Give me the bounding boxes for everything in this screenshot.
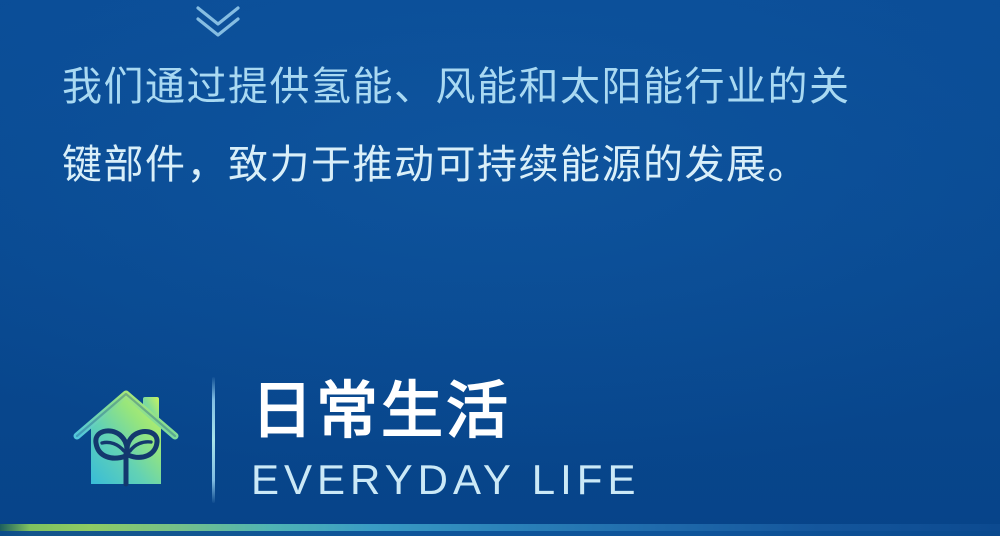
vertical-divider (212, 377, 215, 503)
section-title-cn: 日常生活 (251, 377, 640, 447)
double-chevron-down-icon (190, 2, 246, 40)
banner-root: 我们通过提供氢能、风能和太阳能行业的关 键部件，致力于推动可持续能源的发展。 (0, 0, 1000, 536)
intro-line-1: 我们通过提供氢能、风能和太阳能行业的关 (62, 48, 942, 126)
bottom-gradient-strip (0, 524, 1000, 536)
section-header: 日常生活 EVERYDAY LIFE (72, 372, 640, 508)
intro-line-2: 键部件，致力于推动可持续能源的发展。 (62, 126, 942, 204)
house-with-sprout-icon (72, 381, 180, 499)
section-titles: 日常生活 EVERYDAY LIFE (251, 377, 640, 503)
section-title-en: EVERYDAY LIFE (251, 457, 640, 503)
intro-paragraph: 我们通过提供氢能、风能和太阳能行业的关 键部件，致力于推动可持续能源的发展。 (62, 48, 942, 204)
